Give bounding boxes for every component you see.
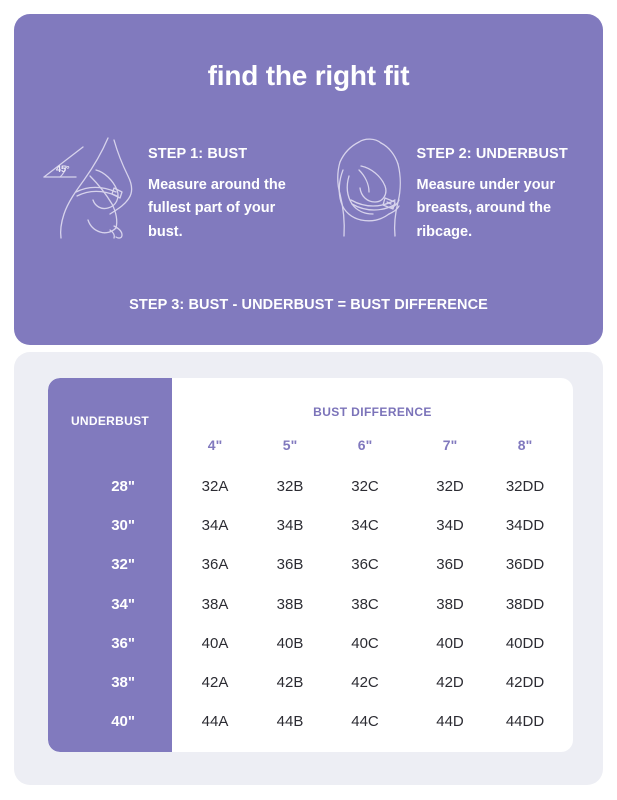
table-cell: 38DD [490, 596, 560, 613]
underbust-column-header: UNDERBUST [48, 414, 172, 428]
size-chart-table: UNDERBUST BUST DIFFERENCE 4"5"6"7"8"32A3… [48, 378, 573, 752]
table-cell: 40D [415, 635, 485, 652]
bust-difference-group-header: BUST DIFFERENCE [172, 405, 573, 419]
bust-measure-illustration: 45° [36, 136, 148, 240]
table-cell: 34DD [490, 517, 560, 534]
step-1-body: STEP 1: BUST Measure around the fullest … [148, 136, 309, 244]
table-cell: 38D [415, 596, 485, 613]
table-cell: 34C [330, 517, 400, 534]
table-cell: 42DD [490, 674, 560, 691]
table-cell: 40A [180, 635, 250, 652]
table-cell: 36A [180, 556, 250, 573]
hero-panel: find the right fit 45° [14, 14, 603, 345]
row-header: 38" [48, 674, 172, 691]
table-cell: 44D [415, 713, 485, 730]
row-header: 40" [48, 713, 172, 730]
table-cell: 40B [255, 635, 325, 652]
column-header: 8" [490, 437, 560, 453]
step-2: STEP 2: UNDERBUST Measure under your bre… [309, 136, 604, 244]
svg-text:45°: 45° [56, 164, 70, 174]
table-cell: 44DD [490, 713, 560, 730]
table-cell: 42A [180, 674, 250, 691]
column-header: 7" [415, 437, 485, 453]
table-cell: 32DD [490, 478, 560, 495]
table-cell: 44B [255, 713, 325, 730]
steps-container: 45° [14, 136, 603, 244]
table-cell: 40C [330, 635, 400, 652]
step-1: 45° [14, 136, 309, 244]
step-1-text: Measure around the fullest part of your … [148, 174, 308, 244]
step-2-text: Measure under your breasts, around the r… [417, 174, 589, 244]
table-cell: 44C [330, 713, 400, 730]
table-cell: 38B [255, 596, 325, 613]
table-cell: 40DD [490, 635, 560, 652]
table-cell: 32D [415, 478, 485, 495]
table-cell: 34B [255, 517, 325, 534]
table-cell: 36DD [490, 556, 560, 573]
table-cell: 32A [180, 478, 250, 495]
column-header: 4" [180, 437, 250, 453]
table-cell: 44A [180, 713, 250, 730]
row-header: 30" [48, 517, 172, 534]
table-cell: 36C [330, 556, 400, 573]
table-cell: 38C [330, 596, 400, 613]
table-cell: 42B [255, 674, 325, 691]
table-cell: 32C [330, 478, 400, 495]
row-header: 28" [48, 478, 172, 495]
table-cell: 42D [415, 674, 485, 691]
table-cell: 42C [330, 674, 400, 691]
column-header: 6" [330, 437, 400, 453]
row-header: 36" [48, 635, 172, 652]
underbust-measure-illustration [325, 136, 417, 240]
table-cell: 36D [415, 556, 485, 573]
step-2-body: STEP 2: UNDERBUST Measure under your bre… [417, 136, 604, 244]
step-3-formula: STEP 3: BUST - UNDERBUST = BUST DIFFEREN… [14, 297, 603, 313]
table-cell: 32B [255, 478, 325, 495]
page-title: find the right fit [14, 62, 603, 90]
column-header: 5" [255, 437, 325, 453]
table-cell: 34A [180, 517, 250, 534]
row-header: 32" [48, 556, 172, 573]
table-cell: 34D [415, 517, 485, 534]
step-2-heading: STEP 2: UNDERBUST [417, 146, 604, 162]
row-header: 34" [48, 596, 172, 613]
table-cell: 38A [180, 596, 250, 613]
step-1-heading: STEP 1: BUST [148, 146, 309, 162]
table-cell: 36B [255, 556, 325, 573]
